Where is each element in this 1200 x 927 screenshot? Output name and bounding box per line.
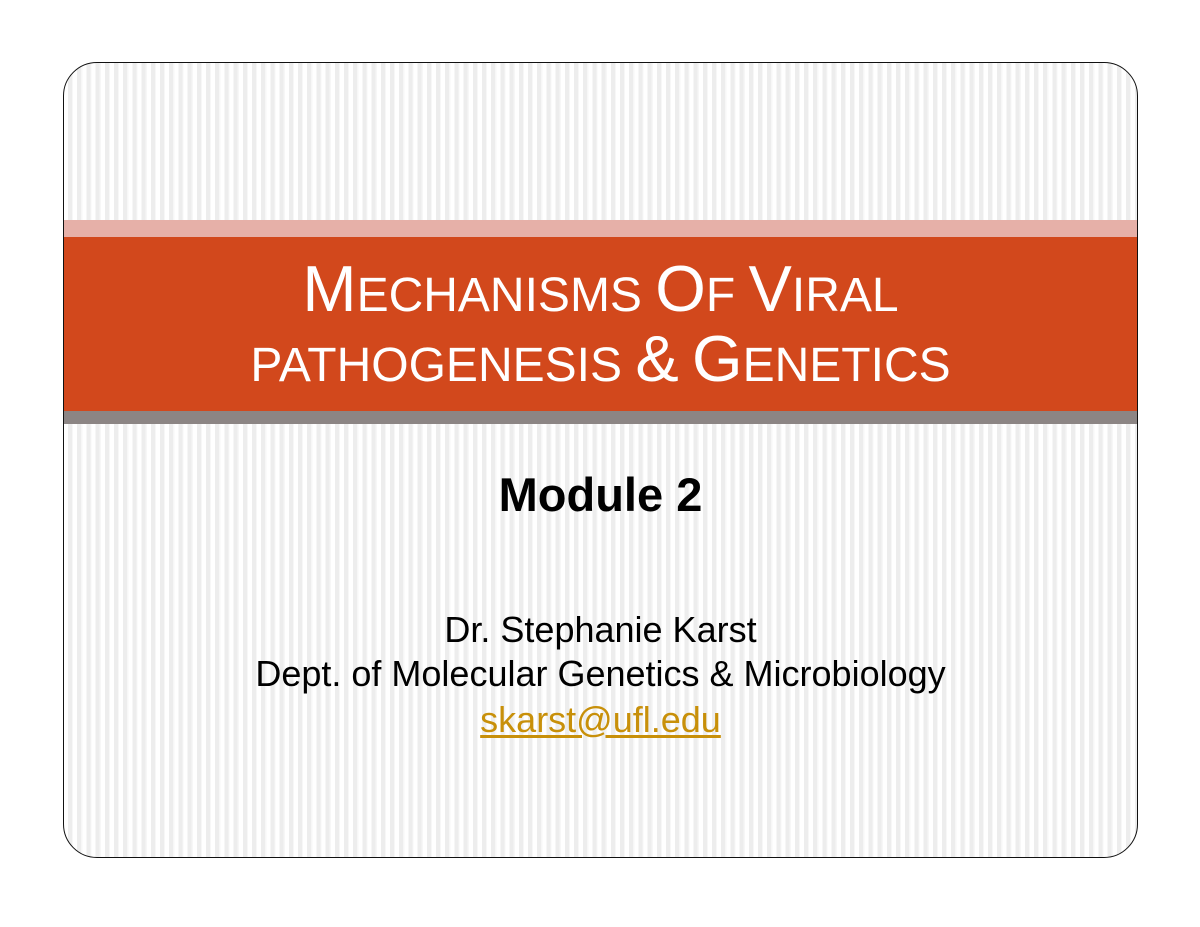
title-line-1-rest-f: F [706,269,735,322]
title-line-2-ampersand: & [635,322,678,395]
slide-canvas: MECHANISMS OF VIRAL PATHOGENESIS & GENET… [63,62,1138,858]
title-line-1-lead-m: M [302,252,356,325]
title-line-2-rest-athogenesis: ATHOGENESIS [279,339,622,392]
title-line-2-space-2 [679,339,692,392]
title-line-2-rest-enetics: ENETICS [743,339,951,392]
title-line-2-lead-g: G [692,322,743,395]
slide-title: MECHANISMS OF VIRAL PATHOGENESIS & GENET… [64,237,1137,411]
title-line-1-rest-echanisms: ECHANISMS [357,269,642,322]
module-subtitle: Module 2 [64,467,1137,522]
title-line-1-rest-iral: IRAL [792,269,899,322]
title-banner-accent-top [64,220,1137,237]
title-line-2-space-1 [622,339,635,392]
title-banner-accent-bottom [64,411,1137,424]
author-email-link[interactable]: skarst@ufl.edu [480,698,721,742]
author-name: Dr. Stephanie Karst [64,608,1137,652]
author-email-row: skarst@ufl.edu [64,698,1137,742]
slide-page: MECHANISMS OF VIRAL PATHOGENESIS & GENET… [0,0,1200,927]
slide-title-line-1: MECHANISMS OF VIRAL [302,255,898,323]
title-line-1-lead-v: V [749,252,792,325]
slide-title-line-2: PATHOGENESIS & GENETICS [250,325,950,393]
title-line-1-lead-o: O [655,252,706,325]
author-department: Dept. of Molecular Genetics & Microbiolo… [64,652,1137,696]
author-block: Dr. Stephanie Karst Dept. of Molecular G… [64,608,1137,742]
title-line-2-lead-p: P [250,339,278,392]
title-line-1-space-1 [642,269,655,322]
title-line-1-space-2 [735,269,748,322]
